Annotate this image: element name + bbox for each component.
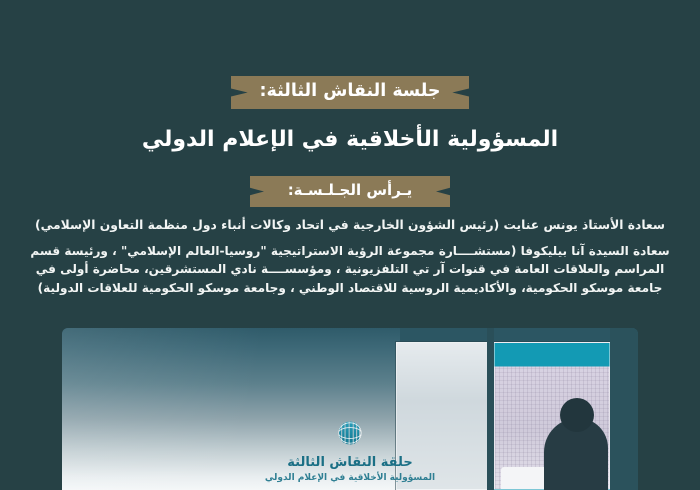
speaker-entry: سعادة السيدة آنا بيليكوفا (مستشــــارة م… — [18, 242, 682, 297]
media-overlay-subline: المسؤولية الأخلاقية في الإعلام الدولي — [62, 474, 638, 484]
session-badge: جلسة النقاش الثالثة: — [231, 76, 469, 109]
speaker-entry: سعادة الأستاذ يونس عنايت (رئيس الشؤون ال… — [18, 216, 682, 235]
broadcast-globe-logo-icon — [333, 416, 367, 450]
media-panel[interactable]: حلقة النقاش الثالثة المسؤولية الأخلاقية … — [62, 328, 638, 490]
media-overlay-headline: حلقة النقاش الثالثة — [62, 456, 638, 470]
chair-badge: يـرأس الجـلـسـة: — [250, 176, 450, 207]
partition-top-rail — [400, 328, 638, 342]
media-lower-third: حلقة النقاش الثالثة المسؤولية الأخلاقية … — [62, 416, 638, 484]
page-title: المسؤولية الأخلاقية في الإعلام الدولي — [0, 126, 700, 154]
session-badge-container: جلسة النقاش الثالثة: — [0, 76, 700, 109]
presentation-slide: جلسة النقاش الثالثة: المسؤولية الأخلاقية… — [0, 0, 700, 490]
speaker-list: سعادة الأستاذ يونس عنايت (رئيس الشؤون ال… — [18, 216, 682, 297]
chair-badge-container: يـرأس الجـلـسـة: — [0, 176, 700, 207]
